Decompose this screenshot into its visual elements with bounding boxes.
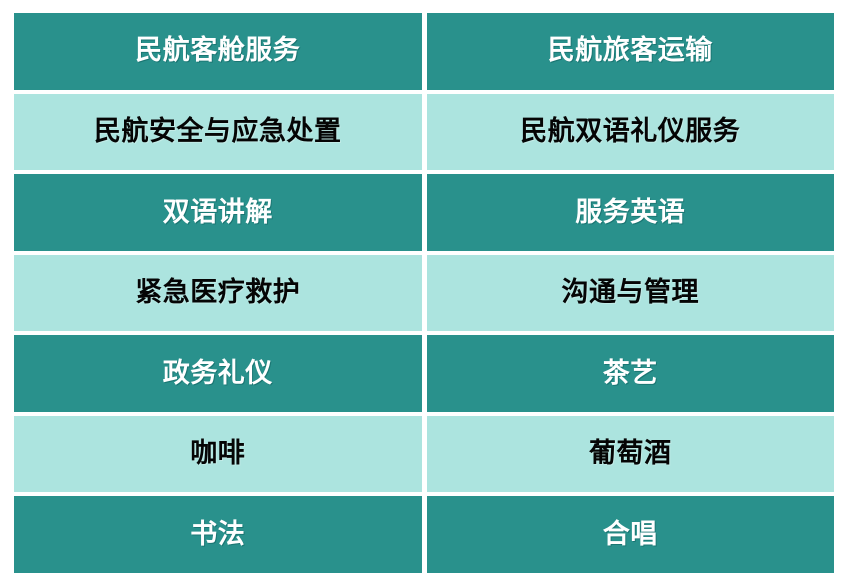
cell-label: 书法: [190, 520, 245, 550]
cell-label: 民航旅客运输: [548, 36, 713, 66]
cell-label: 民航客舱服务: [135, 36, 300, 66]
cell-label: 合唱: [603, 520, 658, 550]
table-row: 咖啡 葡萄酒: [14, 416, 834, 493]
table-cell-r6c1[interactable]: 咖啡: [14, 416, 422, 493]
table-cell-r4c1[interactable]: 紧急医疗救护: [14, 255, 422, 332]
table-row: 书法 合唱: [14, 496, 834, 573]
table-cell-r5c2[interactable]: 茶艺: [427, 335, 835, 412]
cell-label: 茶艺: [603, 359, 658, 389]
table-cell-r7c2[interactable]: 合唱: [427, 496, 835, 573]
table-cell-r6c2[interactable]: 葡萄酒: [427, 416, 835, 493]
table-row: 双语讲解 服务英语: [14, 174, 834, 251]
table-cell-r2c1[interactable]: 民航安全与应急处置: [14, 94, 422, 171]
cell-label: 双语讲解: [163, 198, 273, 228]
table-cell-r3c1[interactable]: 双语讲解: [14, 174, 422, 251]
cell-label: 服务英语: [575, 198, 685, 228]
cell-label: 政务礼仪: [163, 359, 273, 389]
cell-label: 民航安全与应急处置: [94, 117, 342, 147]
table-row: 民航客舱服务 民航旅客运输: [14, 13, 834, 90]
table-cell-r5c1[interactable]: 政务礼仪: [14, 335, 422, 412]
table-row: 民航安全与应急处置 民航双语礼仪服务: [14, 94, 834, 171]
table-row: 紧急医疗救护 沟通与管理: [14, 255, 834, 332]
table-cell-r1c1[interactable]: 民航客舱服务: [14, 13, 422, 90]
table-cell-r1c2[interactable]: 民航旅客运输: [427, 13, 835, 90]
table-row: 政务礼仪 茶艺: [14, 335, 834, 412]
table-cell-r2c2[interactable]: 民航双语礼仪服务: [427, 94, 835, 171]
table-cell-r4c2[interactable]: 沟通与管理: [427, 255, 835, 332]
cell-label: 咖啡: [190, 439, 245, 469]
table-cell-r3c2[interactable]: 服务英语: [427, 174, 835, 251]
cell-label: 沟通与管理: [562, 278, 700, 308]
cell-label: 葡萄酒: [589, 439, 672, 469]
cell-label: 紧急医疗救护: [135, 278, 300, 308]
table-cell-r7c1[interactable]: 书法: [14, 496, 422, 573]
cell-label: 民航双语礼仪服务: [520, 117, 740, 147]
course-table: 民航客舱服务 民航旅客运输 民航安全与应急处置 民航双语礼仪服务 双语讲解 服务…: [14, 13, 834, 573]
